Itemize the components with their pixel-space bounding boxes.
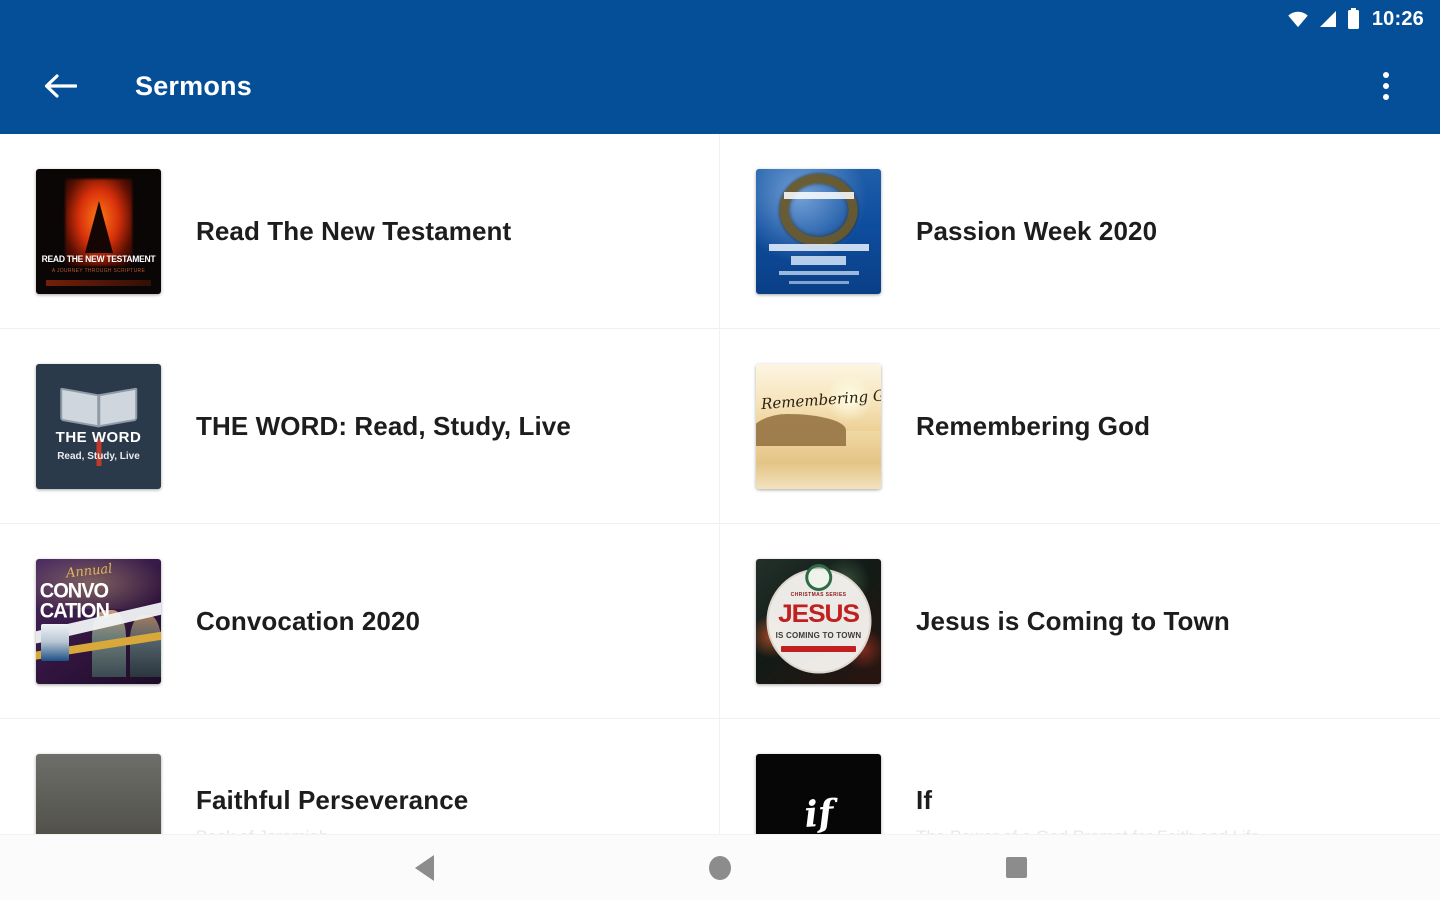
- list-item[interactable]: Jeremiah Faithful Perseverance Book of J…: [0, 719, 720, 834]
- sermons-grid: READ THE NEW TESTAMENT A JOURNEY THROUGH…: [0, 134, 1440, 834]
- list-item[interactable]: READ THE NEW TESTAMENT A JOURNEY THROUGH…: [0, 134, 720, 329]
- back-triangle-icon: [415, 855, 434, 881]
- list-item[interactable]: Passion Week 2020: [720, 134, 1440, 329]
- list-item-subtitle: Book of Jeremiah: [196, 827, 468, 834]
- home-circle-icon: [709, 856, 731, 880]
- thumb-caption: JESUS: [756, 600, 881, 629]
- overflow-dot-icon: [1383, 94, 1389, 100]
- page-title: Sermons: [135, 71, 252, 102]
- recents-square-icon: [1006, 857, 1027, 878]
- list-item[interactable]: Remembering God Remembering God: [720, 329, 1440, 524]
- thumbnail-remembering-god: Remembering God: [756, 364, 881, 489]
- overflow-dot-icon: [1383, 72, 1389, 78]
- list-item[interactable]: Annual CONVO CATION Convocation 2020: [0, 524, 720, 719]
- android-navigation-bar: [0, 834, 1440, 900]
- thumbnail-faithful-perseverance: Jeremiah: [36, 754, 161, 835]
- list-item-title: THE WORD: Read, Study, Live: [196, 411, 571, 442]
- thumbnail-passion-week-2020: [756, 169, 881, 294]
- list-item-title: Passion Week 2020: [916, 216, 1157, 247]
- app-bar: Sermons: [0, 38, 1440, 134]
- status-clock: 10:26: [1372, 8, 1424, 31]
- list-item-title: Read The New Testament: [196, 216, 511, 247]
- list-item-title: If: [916, 785, 1260, 816]
- thumbnail-if: if: [756, 754, 881, 835]
- back-arrow-icon: [43, 71, 77, 101]
- list-item-title: Remembering God: [916, 411, 1150, 442]
- list-item[interactable]: CHRISTMAS SERIES JESUS IS COMING TO TOWN…: [720, 524, 1440, 719]
- thumb-caption: READ THE NEW TESTAMENT: [39, 254, 158, 264]
- sermons-list[interactable]: READ THE NEW TESTAMENT A JOURNEY THROUGH…: [0, 134, 1440, 834]
- list-item-title: Faithful Perseverance: [196, 785, 468, 816]
- battery-icon: [1347, 8, 1360, 30]
- thumbnail-read-the-new-testament: READ THE NEW TESTAMENT A JOURNEY THROUGH…: [36, 169, 161, 294]
- wifi-icon: [1287, 10, 1309, 28]
- overflow-menu-button[interactable]: [1362, 58, 1410, 114]
- thumb-caption: if: [802, 792, 834, 834]
- overflow-dot-icon: [1383, 83, 1389, 89]
- list-item[interactable]: THE WORD Read, Study, Live THE WORD: Rea…: [0, 329, 720, 524]
- list-item[interactable]: if If The Power of a God Prompt for Fait…: [720, 719, 1440, 834]
- thumb-subcaption: IS COMING TO TOWN: [756, 631, 881, 640]
- nav-home-button[interactable]: [690, 844, 750, 892]
- nav-back-button[interactable]: [394, 844, 454, 892]
- list-item-title: Jesus is Coming to Town: [916, 606, 1230, 637]
- thumbnail-jesus-is-coming-to-town: CHRISTMAS SERIES JESUS IS COMING TO TOWN: [756, 559, 881, 684]
- thumb-subcaption: Read, Study, Live: [36, 451, 161, 462]
- thumb-caption: THE WORD: [36, 429, 161, 446]
- thumbnail-the-word: THE WORD Read, Study, Live: [36, 364, 161, 489]
- thumbnail-convocation-2020: Annual CONVO CATION: [36, 559, 161, 684]
- back-button[interactable]: [36, 62, 84, 110]
- cell-signal-icon: [1318, 10, 1338, 28]
- list-item-subtitle: The Power of a God Prompt for Faith and …: [916, 827, 1260, 834]
- thumb-script-caption: CHRISTMAS SERIES: [756, 592, 881, 598]
- thumb-subcaption: A JOURNEY THROUGH SCRIPTURE: [36, 268, 161, 274]
- status-bar: 10:26: [0, 0, 1440, 38]
- nav-recents-button[interactable]: [986, 844, 1046, 892]
- list-item-title: Convocation 2020: [196, 606, 420, 637]
